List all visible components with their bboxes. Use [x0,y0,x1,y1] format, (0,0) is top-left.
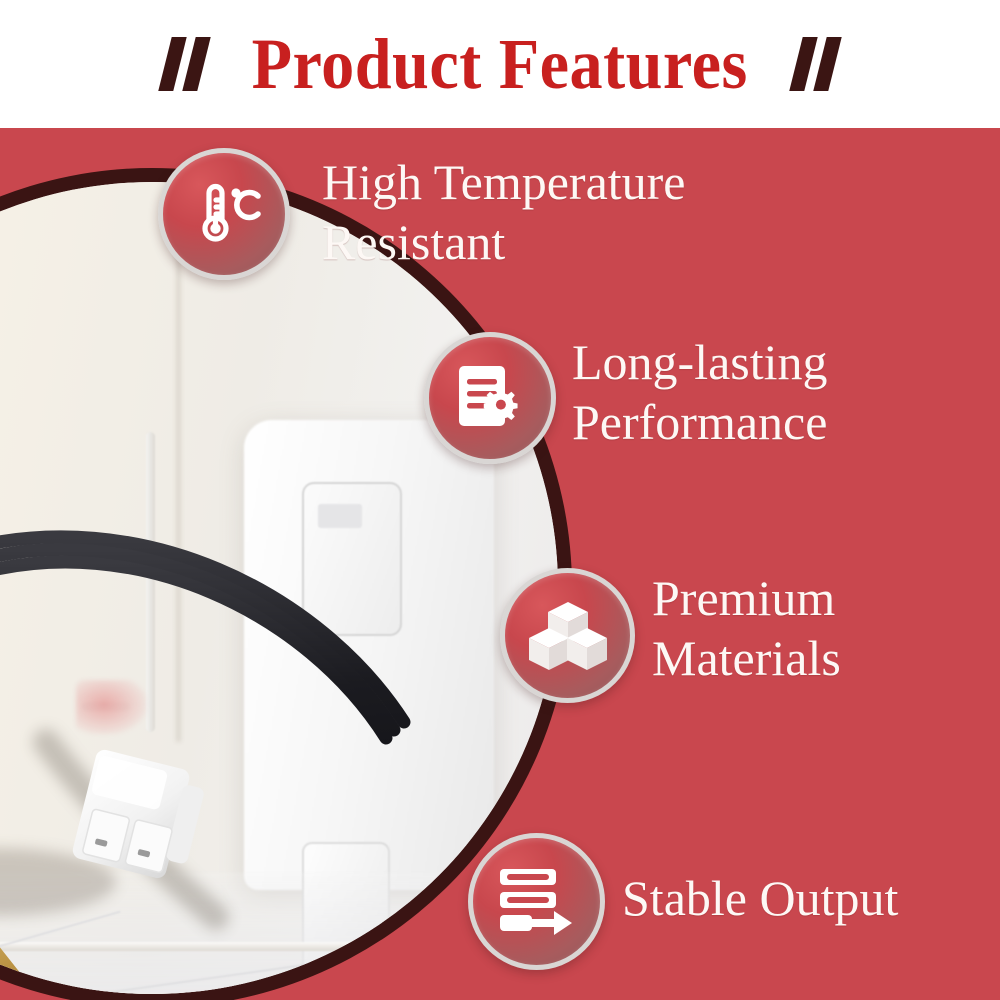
feature-badge-premium-materials[interactable] [500,568,635,703]
document-gear-icon [453,361,527,435]
feature-label-premium-materials: Premium Materials [652,568,992,688]
slash-mark-right-icon [796,37,835,91]
thermometer-celsius-icon [186,176,262,252]
feature-label-high-temperature-resistant: High Temperature Resistant [322,152,882,272]
list-arrow-output-icon [498,866,576,938]
feature-badge-long-lasting-performance[interactable] [424,332,556,464]
page-title: Product Features [252,28,748,100]
stacked-cubes-icon [528,600,608,672]
feature-badge-stable-output[interactable] [468,833,605,970]
feature-badge-high-temperature-resistant[interactable] [158,148,290,280]
product-features-infographic: Product Features High Temperature Resist… [0,0,1000,1000]
feature-label-stable-output: Stable Output [622,868,992,928]
slash-mark-left-icon [165,37,204,91]
header-band: Product Features [0,0,1000,128]
feature-label-long-lasting-performance: Long-lasting Performance [572,332,992,452]
